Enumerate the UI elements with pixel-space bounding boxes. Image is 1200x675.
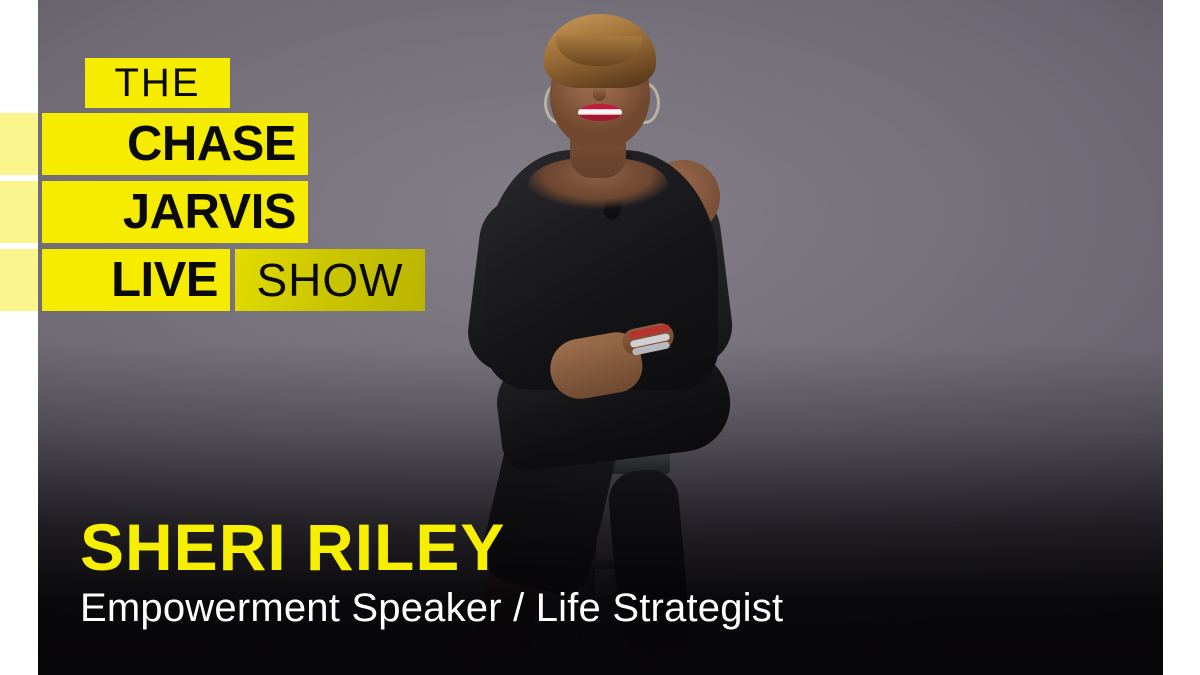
smiling-mouth bbox=[578, 104, 622, 121]
logo-text-chase: CHASE bbox=[127, 120, 296, 169]
logo-bleed-jarvis bbox=[0, 181, 38, 243]
guest-role: Empowerment Speaker / Life Strategist bbox=[80, 587, 1080, 629]
logo-text-live: LIVE bbox=[111, 256, 218, 305]
nose bbox=[593, 86, 606, 101]
logo-bar-live: LIVE bbox=[42, 249, 230, 311]
logo-text-the: THE bbox=[115, 63, 201, 103]
show-logo[interactable]: THE CHASE JARVIS LIVE SHOW bbox=[0, 58, 470, 320]
logo-bleed-chase bbox=[0, 113, 38, 175]
logo-text-jarvis: JARVIS bbox=[123, 188, 296, 237]
logo-bar-show: SHOW bbox=[235, 249, 425, 311]
title-block: SHERI RILEY Empowerment Speaker / Life S… bbox=[80, 514, 1080, 629]
logo-text-show: SHOW bbox=[256, 257, 403, 303]
logo-bar-jarvis: JARVIS bbox=[42, 181, 308, 243]
episode-thumbnail: THE CHASE JARVIS LIVE SHOW SHERI RILEY E… bbox=[0, 0, 1200, 675]
logo-bar-chase: CHASE bbox=[42, 113, 308, 175]
guest-name: SHERI RILEY bbox=[80, 514, 1080, 581]
logo-bar-the: THE bbox=[85, 58, 230, 108]
logo-bleed-live bbox=[0, 249, 38, 311]
